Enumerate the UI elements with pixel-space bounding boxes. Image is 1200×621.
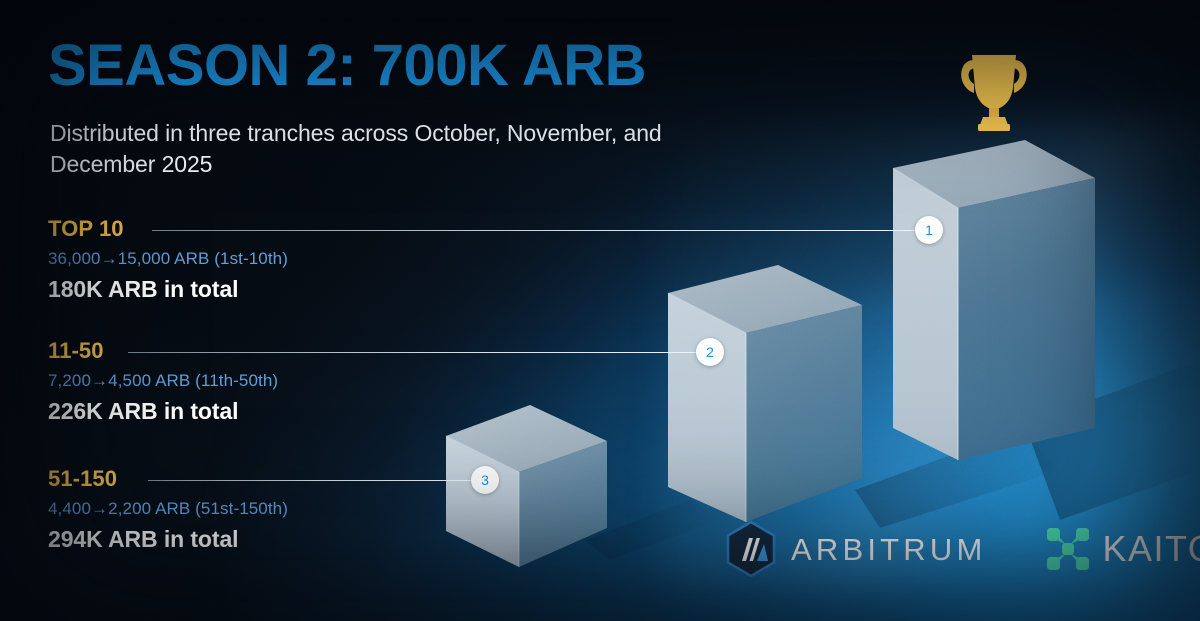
background-vignette <box>0 0 1200 621</box>
infographic-canvas: SEASON 2: 700K ARB Distributed in three … <box>0 0 1200 621</box>
